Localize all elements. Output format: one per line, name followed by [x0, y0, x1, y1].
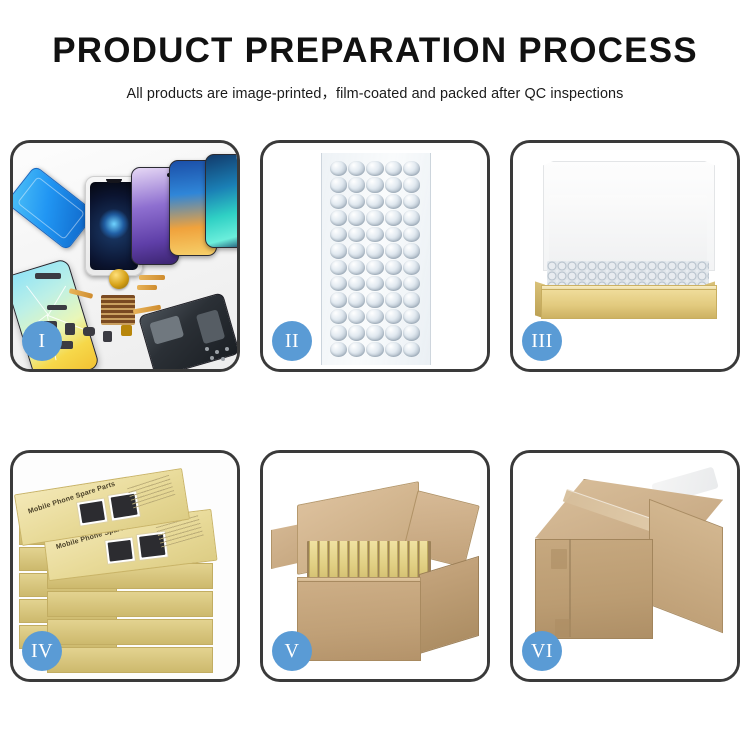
page-title: PRODUCT PREPARATION PROCESS — [0, 33, 750, 68]
carton-patch — [551, 549, 567, 569]
stacked-box-side — [47, 591, 213, 617]
inner-box-front — [541, 289, 717, 319]
bubble-wrap-pouch — [321, 153, 431, 365]
small-part — [65, 323, 75, 335]
box-window — [76, 498, 108, 527]
step-badge-4: IV — [22, 631, 62, 671]
small-part — [83, 327, 95, 336]
step-badge-3: III — [522, 321, 562, 361]
small-part — [47, 305, 67, 310]
page-header: PRODUCT PREPARATION PROCESS All products… — [0, 0, 750, 103]
product-preparation-page: PRODUCT PREPARATION PROCESS All products… — [0, 0, 750, 750]
process-step-6: VI — [510, 450, 740, 682]
connector-grid-part — [101, 295, 135, 325]
stacked-box-side — [47, 619, 213, 645]
step-badge-2: II — [272, 321, 312, 361]
page-subtitle: All products are image-printed，film-coat… — [0, 82, 750, 103]
step-badge-6: VI — [522, 631, 562, 671]
step-badge-5: V — [272, 631, 312, 671]
carton-patch — [555, 619, 571, 637]
small-part — [121, 325, 132, 336]
gold-coil-part — [109, 269, 129, 289]
small-part — [103, 331, 112, 342]
process-step-5: V — [260, 450, 490, 682]
notch-icon — [106, 179, 122, 183]
process-step-2: II — [260, 140, 490, 372]
box-window — [104, 537, 136, 565]
bubble-grid — [330, 161, 420, 357]
flex-cable-part — [69, 288, 93, 299]
process-step-1: I — [10, 140, 240, 372]
process-step-3: III — [510, 140, 740, 372]
small-part — [35, 273, 61, 279]
process-step-4: Mobile Phone Spare Parts Mobile Phone Sp… — [10, 450, 240, 682]
flex-cable-part — [137, 285, 157, 290]
process-step-grid: I — [10, 140, 740, 685]
flex-cable-part — [139, 275, 165, 280]
screws-group — [205, 347, 231, 361]
stacked-box-side — [47, 647, 213, 673]
foam-sheet — [549, 195, 707, 263]
carton-front-face — [297, 581, 421, 661]
phone-screen-teal — [205, 154, 237, 248]
step-badge-1: I — [22, 321, 62, 361]
